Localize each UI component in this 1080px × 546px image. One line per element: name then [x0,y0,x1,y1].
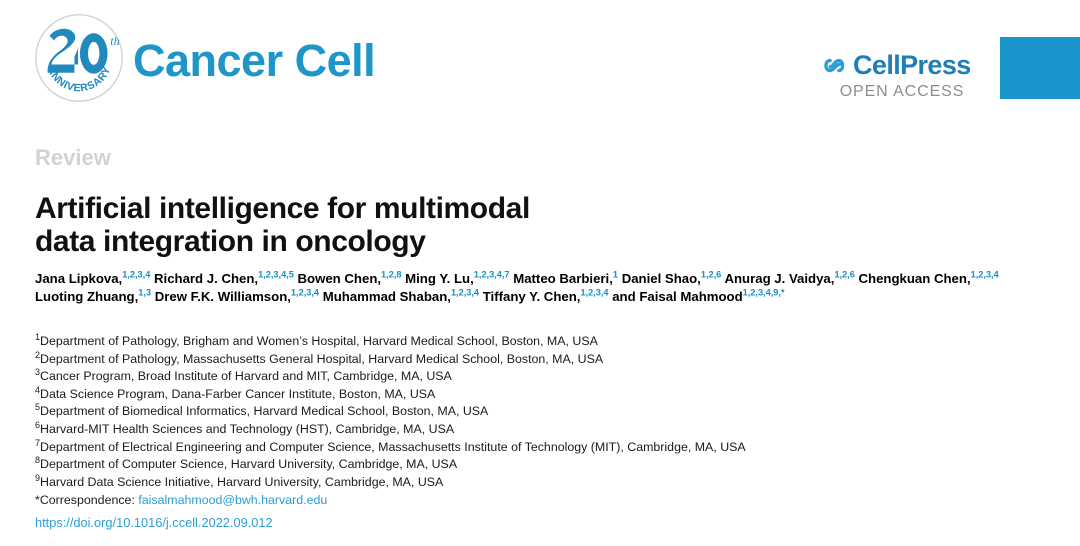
affiliation-text: Department of Pathology, Massachusetts G… [40,352,603,366]
author-affiliation-markers: 1,3 [138,288,151,298]
affiliation-item: 1Department of Pathology, Brigham and Wo… [35,333,1035,351]
affiliation-text: Cancer Program, Broad Institute of Harva… [40,369,452,383]
affiliation-item: 9Harvard Data Science Initiative, Harvar… [35,474,1035,492]
correspondence-email-link[interactable]: faisalmahmood@bwh.harvard.edu [138,493,327,507]
correspondence-line: *Correspondence: faisalmahmood@bwh.harva… [35,492,327,510]
author-affiliation-markers: 1,2,3,4 [122,270,150,280]
author-name: Daniel Shao, [622,271,701,286]
author-name: Luoting Zhuang, [35,289,138,304]
correspondence-label: Correspondence: [40,493,135,507]
author-affiliation-markers: 1,2,3,4 [451,288,479,298]
author-entry: Drew F.K. Williamson,1,2,3,4 [155,289,319,304]
affiliation-text: Department of Computer Science, Harvard … [40,457,457,471]
author-affiliation-markers: 1,2,8 [381,270,401,280]
affiliation-item: 5Department of Biomedical Informatics, H… [35,403,1035,421]
author-name: Tiffany Y. Chen, [483,289,581,304]
author-entry: Chengkuan Chen,1,2,3,4 [859,271,999,286]
affiliation-text: Harvard-MIT Health Sciences and Technolo… [40,422,454,436]
article-header-page: th ANNIVERSARY Cancer Cell Ce [0,0,1080,546]
affiliation-text: Department of Electrical Engineering and… [40,440,746,454]
author-affiliation-markers: 1,2,3,4 [291,288,319,298]
affiliation-item: 3Cancer Program, Broad Institute of Harv… [35,368,1035,386]
author-affiliation-markers: 1 [613,270,618,280]
author-name: Bowen Chen, [298,271,382,286]
title-line: data integration in oncology [35,225,755,258]
author-name: Matteo Barbieri, [513,271,613,286]
author-list: Jana Lipkova,1,2,3,4 Richard J. Chen,1,2… [35,270,1065,306]
cellpress-loop-icon [822,53,847,78]
title-line: Artificial intelligence for multimodal [35,192,755,225]
author-entry: Muhammad Shaban,1,2,3,4 [323,289,479,304]
publisher-name: CellPress [853,52,971,79]
author-entry: and Faisal Mahmood1,2,3,4,9,* [612,289,784,304]
author-entry: Bowen Chen,1,2,8 [298,271,402,286]
affiliation-text: Harvard Data Science Initiative, Harvard… [40,475,443,489]
author-affiliation-markers: 1,2,3,4,7 [474,270,510,280]
open-access-label: OPEN ACCESS [822,83,982,101]
accent-block [1000,37,1080,99]
author-entry: Anurag J. Vaidya,1,2,6 [724,271,854,286]
affiliation-item: 2Department of Pathology, Massachusetts … [35,351,1035,369]
journal-title-wordmark: Cancer Cell [133,38,375,83]
author-name: Anurag J. Vaidya, [724,271,834,286]
affiliation-item: 6Harvard-MIT Health Sciences and Technol… [35,421,1035,439]
author-entry: Tiffany Y. Chen,1,2,3,4 [483,289,609,304]
affiliation-item: 7Department of Electrical Engineering an… [35,439,1035,457]
author-entry: Luoting Zhuang,1,3 [35,289,151,304]
author-affiliation-markers: 1,2,3,4,9,* [743,288,785,298]
affiliation-item: 8Department of Computer Science, Harvard… [35,456,1035,474]
author-entry: Daniel Shao,1,2,6 [622,271,722,286]
svg-text:th: th [110,34,119,48]
page-title: Artificial intelligence for multimodal d… [35,192,755,258]
anniversary-seal-icon: th ANNIVERSARY [33,12,125,104]
author-affiliation-markers: 1,2,6 [701,270,721,280]
author-entry: Ming Y. Lu,1,2,3,4,7 [405,271,509,286]
affiliation-text: Data Science Program, Dana-Farber Cancer… [40,387,435,401]
affiliation-text: Department of Biomedical Informatics, Ha… [40,404,488,418]
author-entry: Richard J. Chen,1,2,3,4,5 [154,271,294,286]
publisher-logo: CellPress OPEN ACCESS [822,50,990,106]
affiliation-text: Department of Pathology, Brigham and Wom… [40,334,598,348]
author-name: and Faisal Mahmood [612,289,742,304]
author-affiliation-markers: 1,2,3,4 [580,288,608,298]
article-type-kicker: Review [35,145,111,171]
author-name: Richard J. Chen, [154,271,258,286]
affiliation-item: 4Data Science Program, Dana-Farber Cance… [35,386,1035,404]
affiliation-list: 1Department of Pathology, Brigham and Wo… [35,333,1035,491]
author-name: Chengkuan Chen, [859,271,971,286]
author-name: Jana Lipkova, [35,271,122,286]
author-affiliation-markers: 1,2,3,4,5 [258,270,294,280]
author-name: Drew F.K. Williamson, [155,289,291,304]
author-affiliation-markers: 1,2,6 [834,270,854,280]
author-name: Muhammad Shaban, [323,289,451,304]
author-affiliation-markers: 1,2,3,4 [971,270,999,280]
doi-link[interactable]: https://doi.org/10.1016/j.ccell.2022.09.… [35,514,273,532]
journal-masthead: th ANNIVERSARY Cancer Cell Ce [0,0,1080,120]
author-entry: Matteo Barbieri,1 [513,271,618,286]
author-name: Ming Y. Lu, [405,271,474,286]
author-entry: Jana Lipkova,1,2,3,4 [35,271,150,286]
